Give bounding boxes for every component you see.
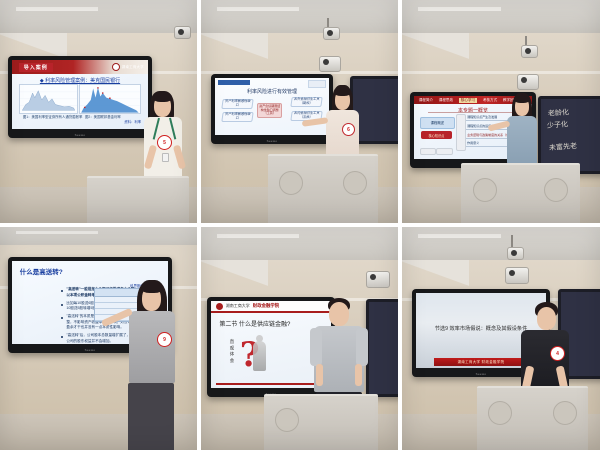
lectern — [268, 154, 378, 223]
presenter-badge: 9 — [157, 332, 172, 347]
flow-node-2: 资产利率敏感性缺口 — [221, 112, 253, 122]
university-logo: 湖南工商大学 — [112, 63, 144, 71]
screen-brand: Seewo — [267, 139, 278, 143]
projector-icon — [505, 267, 529, 284]
presenter-badge: 4 — [550, 346, 565, 361]
header-university: 湖南工商大学 — [226, 303, 250, 309]
slide-title: 节选9 效率市场假说：概念及其假设条件 — [435, 325, 528, 332]
chart-left — [19, 84, 78, 114]
collage-panel-6[interactable]: 节选9 效率市场假说：概念及其假设条件 湖南工商大学 财政金融学院 Seewo … — [402, 227, 600, 450]
screen-brand: Seewo — [85, 348, 96, 352]
camera-icon — [507, 247, 524, 260]
collage-panel-4[interactable]: 什么是高送转? "高送转"一般是指大价额派红股或者大价额以本项公积金转增股本。 … — [0, 227, 197, 450]
area-chart-svg — [80, 85, 140, 113]
group-spine — [456, 114, 465, 151]
collage-panel-3[interactable]: 老龄化 少子化 未富先老 课程简介 课程思政 核心学习 考核方式 教学团队 本专… — [402, 0, 600, 223]
ceiling — [201, 0, 398, 38]
chalk-line-1: 老龄化 — [548, 108, 570, 118]
presenter-badge: 6 — [342, 123, 355, 136]
blackboard — [366, 299, 398, 397]
overview-box: 课程概述 — [420, 117, 455, 129]
ceiling — [201, 227, 398, 265]
figure-graphic — [253, 341, 266, 371]
camera-icon — [521, 45, 538, 58]
header-college: 财政金融学院 — [253, 303, 279, 309]
photo-collage: 导入案例 湖南工商大学 ◆ 利率风险管理案例：美克国民银行 — [0, 0, 600, 450]
chart-right-caption: 图2：美国联邦基金利率 — [85, 114, 121, 119]
vertical-text: 直观体会 — [229, 339, 235, 365]
presenter-badge: 5 — [157, 135, 172, 150]
lectern — [477, 386, 588, 450]
screen-brand: Seewo — [75, 133, 86, 137]
chart-right — [79, 84, 141, 114]
university-name: 湖南工商大学 — [122, 64, 144, 69]
nav-item-0: 课程简介 — [419, 98, 433, 103]
collage-panel-1[interactable]: 导入案例 湖南工商大学 ◆ 利率风险管理案例：美克国民银行 — [0, 0, 197, 223]
nav-item-2-active: 核心学习 — [459, 98, 477, 103]
core-badge: 核心知识点 — [421, 131, 452, 139]
wall-slant — [402, 260, 469, 289]
chalk-line-2: 少子化 — [547, 120, 569, 130]
lectern — [461, 163, 580, 223]
lectern — [87, 176, 189, 223]
wall-slant — [402, 33, 469, 62]
row-0-text: 课程知识点产生及发展 — [467, 115, 497, 119]
university-emblem-icon — [216, 303, 223, 310]
chart-left-caption: 图1：美国利率型证券所有人通货膨胀率 — [23, 114, 83, 119]
slide-title: 什么是高送转? — [20, 266, 63, 276]
presenter-4: 9 — [121, 280, 183, 450]
display-screen-2: 利率风险进行有效管理 资产利率敏感性缺口 资产利率敏感性缺口 资产负债期限结构性… — [211, 74, 333, 144]
slide-1: 导入案例 湖南工商大学 ◆ 利率风险管理案例：美克国民银行 — [12, 60, 148, 129]
flow-node-1: 资产利率敏感性缺口 — [221, 99, 253, 109]
row-3-text: 作用意义 — [467, 141, 479, 145]
ceiling — [402, 227, 600, 265]
collage-panel-2[interactable]: 利率风险进行有效管理 资产利率敏感性缺口 资产利率敏感性缺口 资产负债期限结构性… — [201, 0, 398, 223]
banner-text: 湖南工商大学 财政金融学院 — [458, 359, 505, 364]
slide-banner: 湖南工商大学 财政金融学院 — [434, 358, 528, 366]
slide-2: 利率风险进行有效管理 资产利率敏感性缺口 资产利率敏感性缺口 资产负债期限结构性… — [215, 78, 329, 135]
display-screen-1: 导入案例 湖南工商大学 ◆ 利率风险管理案例：美克国民银行 — [8, 56, 152, 138]
projector-icon — [517, 74, 539, 90]
section-title: 第二节 什么是供应链金融? — [219, 319, 290, 328]
camera-icon — [323, 27, 340, 40]
ceiling — [402, 0, 600, 38]
ceiling — [0, 0, 197, 38]
screen-brand: Seewo — [476, 372, 487, 376]
nav-item-1: 课程思政 — [439, 98, 453, 103]
camera-icon — [174, 26, 191, 39]
wall-slant — [201, 260, 268, 289]
projector-icon — [366, 271, 390, 288]
flow-core-node: 资产负债期限结构性缺口调整（工具） — [257, 103, 282, 118]
nav-item-3: 考核方式 — [483, 98, 497, 103]
projector-icon — [319, 56, 341, 72]
collage-panel-5[interactable]: 湖南工商大学 财政金融学院 第二节 什么是供应链金融? 直观体会 ? Seewo — [201, 227, 398, 450]
wall-slant — [201, 33, 268, 62]
chalk-line-3: 未富先老 — [549, 142, 578, 153]
line-chart-svg — [20, 85, 77, 113]
slide-title: 利率风险进行有效管理 — [247, 88, 297, 95]
slide-tag: 导入案例 — [19, 63, 53, 72]
lectern — [264, 394, 378, 450]
